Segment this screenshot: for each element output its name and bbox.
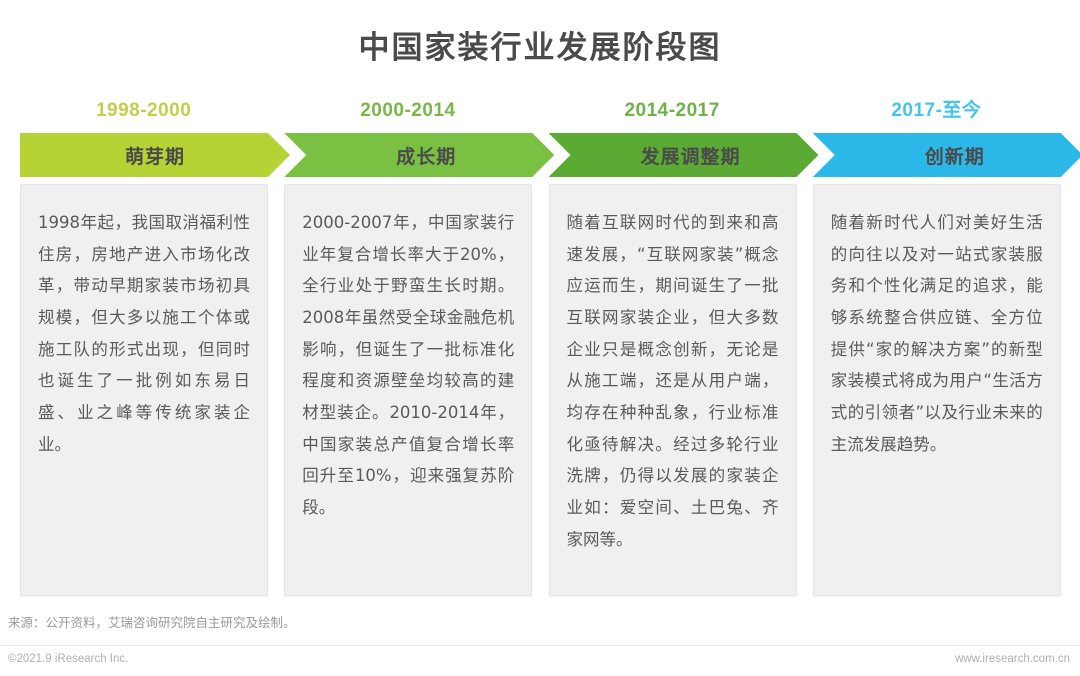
- stage-description-card: 1998年起，我国取消福利性住房，房地产进入市场化改革，带动早期家装市场初具规模…: [20, 184, 268, 596]
- stage-year-label: 2014-2017: [549, 96, 796, 126]
- footer-bar: ©2021.9 iResearch Inc. www.iresearch.com…: [0, 645, 1080, 676]
- source-note: 来源：公开资料，艾瑞咨询研究院自主研究及绘制。: [8, 612, 296, 631]
- stages-container: 1998-2000 萌芽期 1998年起，我国取消福利性住房，房地产进入市场化改…: [20, 96, 1060, 601]
- stage-column-4: 2017-至今 创新期 随着新时代人们对美好生活的向往以及对一站式家装服务和个性…: [813, 96, 1060, 601]
- stage-banner-label: 成长期: [382, 142, 456, 169]
- stage-banner-wrapper: 萌芽期: [20, 133, 267, 177]
- website-link[interactable]: www.iresearch.com.cn: [955, 653, 1070, 665]
- stage-banner-label: 发展调整期: [626, 142, 740, 169]
- copyright-text: ©2021.9 iResearch Inc.: [8, 653, 128, 665]
- stage-description-text: 1998年起，我国取消福利性住房，房地产进入市场化改革，带动早期家装市场初具规模…: [21, 185, 267, 460]
- stage-description-card: 随着新时代人们对美好生活的向往以及对一站式家装服务和个性化满足的追求，能够系统整…: [813, 184, 1061, 596]
- stage-banner-label: 萌芽期: [125, 142, 185, 169]
- stage-arrow-banner: 创新期: [813, 133, 1080, 177]
- stage-year-label: 1998-2000: [20, 96, 267, 126]
- stage-year-label: 2017-至今: [813, 96, 1060, 126]
- stage-arrow-banner: 成长期: [284, 133, 554, 177]
- stage-description-text: 2000-2007年，中国家装行业年复合增长率大于20%，全行业处于野蛮生长时期…: [285, 185, 531, 524]
- stage-description-card: 2000-2007年，中国家装行业年复合增长率大于20%，全行业处于野蛮生长时期…: [284, 184, 532, 596]
- stage-description-card: 随着互联网时代的到来和高速发展，“互联网家装”概念应运而生，期间诞生了一批互联网…: [549, 184, 797, 596]
- stage-banner-wrapper: 成长期: [284, 133, 531, 177]
- stage-arrow-banner: 发展调整期: [549, 133, 819, 177]
- stage-column-1: 1998-2000 萌芽期 1998年起，我国取消福利性住房，房地产进入市场化改…: [20, 96, 267, 601]
- stage-arrow-banner: 萌芽期: [20, 133, 290, 177]
- stage-description-text: 随着新时代人们对美好生活的向往以及对一站式家装服务和个性化满足的追求，能够系统整…: [814, 185, 1060, 460]
- stage-column-2: 2000-2014 成长期 2000-2007年，中国家装行业年复合增长率大于2…: [284, 96, 531, 601]
- stage-banner-wrapper: 发展调整期: [549, 133, 796, 177]
- stage-description-text: 随着互联网时代的到来和高速发展，“互联网家装”概念应运而生，期间诞生了一批互联网…: [550, 185, 796, 555]
- stage-year-label: 2000-2014: [284, 96, 531, 126]
- stage-banner-wrapper: 创新期: [813, 133, 1060, 177]
- stage-column-3: 2014-2017 发展调整期 随着互联网时代的到来和高速发展，“互联网家装”概…: [549, 96, 796, 601]
- page-title: 中国家装行业发展阶段图: [0, 22, 1080, 67]
- stage-banner-label: 创新期: [911, 142, 985, 169]
